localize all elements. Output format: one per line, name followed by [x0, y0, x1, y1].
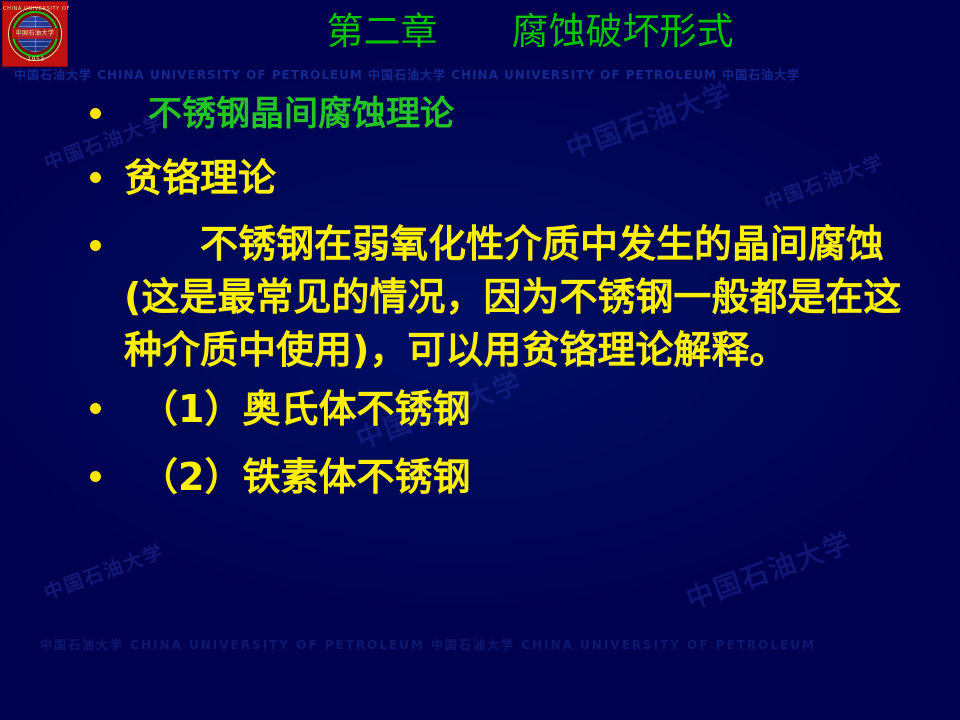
bullet-item-poor-chromium: 贫铬理论	[0, 152, 960, 214]
slide: 中国石油大学 CHINA UNIVERSITY OF PETROLEUM 中国石…	[0, 0, 960, 720]
bullet-dot-icon	[90, 471, 101, 482]
logo-year: 1953	[3, 56, 69, 63]
bullet-item-paragraph: 不锈钢在弱氧化性介质中发生的晶间腐蚀(这是最常见的情况，因为不锈钢一般都是在这种…	[0, 218, 960, 377]
slide-footer: 上页 下页 返回 回主目录 2020/6/30 95	[0, 668, 960, 720]
logo-arc-text: CHINA UNIVERSITY OF PETROLEUM	[3, 6, 69, 12]
bullet-dot-icon	[90, 240, 101, 251]
slide-header: CHINA UNIVERSITY OF PETROLEUM 中国石油大学 195…	[0, 0, 960, 68]
watermark-mark: 中国石油大学	[40, 537, 168, 605]
bullet-dot-icon	[90, 172, 101, 183]
watermark-top-band: 中国石油大学 CHINA UNIVERSITY OF PETROLEUM 中国石…	[14, 66, 800, 83]
bullet-item-label: （1）奥氏体不锈钢	[118, 383, 960, 435]
slide-body: 不锈钢晶间腐蚀理论 贫铬理论 不锈钢在弱氧化性介质中发生的晶间腐蚀(这是最常见的…	[0, 90, 960, 513]
university-logo: CHINA UNIVERSITY OF PETROLEUM 中国石油大学 195…	[2, 1, 68, 67]
bullet-item-ferritic: （2）铁素体不锈钢	[0, 451, 960, 513]
watermark-bottom-band: 中国石油大学 CHINA UNIVERSITY OF PETROLEUM 中国石…	[40, 636, 816, 653]
bullet-item-theory: 不锈钢晶间腐蚀理论	[0, 90, 960, 146]
bullet-item-label: 不锈钢晶间腐蚀理论	[118, 90, 960, 138]
watermark-mark: 中国石油大学	[680, 520, 857, 616]
logo-band-text: 中国石油大学	[12, 28, 58, 39]
bullet-dot-icon	[90, 108, 101, 119]
page-title: 第二章 腐蚀破坏形式	[250, 6, 810, 58]
bullet-item-austenitic: （1）奥氏体不锈钢	[0, 383, 960, 445]
bullet-item-label: （2）铁素体不锈钢	[118, 451, 960, 503]
bullet-item-label: 贫铬理论	[118, 152, 960, 204]
paragraph-text: 不锈钢在弱氧化性介质中发生的晶间腐蚀(这是最常见的情况，因为不锈钢一般都是在这种…	[118, 218, 960, 377]
bullet-dot-icon	[90, 403, 101, 414]
